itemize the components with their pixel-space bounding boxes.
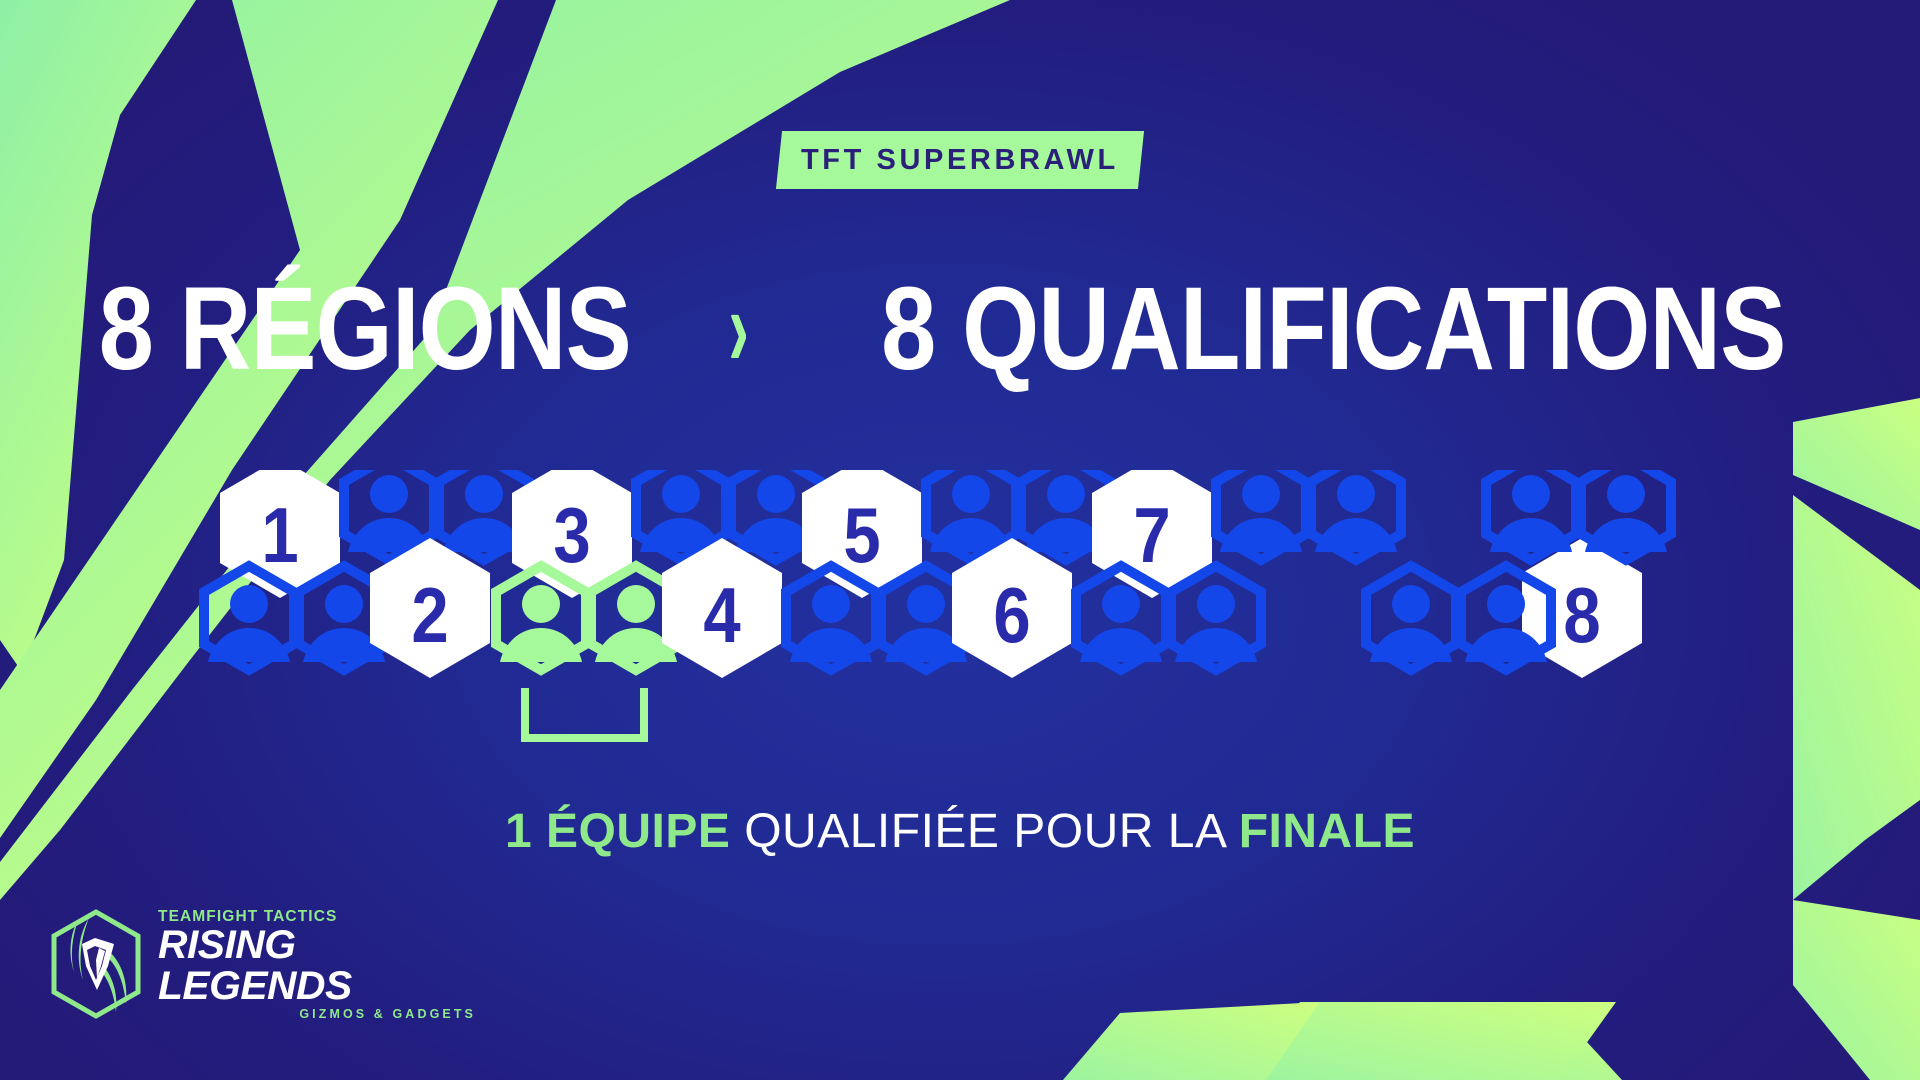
rising-legends-logo: TEAMFIGHT TACTICS RISING LEGENDS GIZMOS … <box>48 905 478 1023</box>
qualified-bracket <box>525 688 644 738</box>
region-number-label: 2 <box>411 572 448 659</box>
person-hexagon-icon <box>496 566 586 670</box>
logo-line-gizmos-gadgets: GIZMOS & GADGETS <box>158 1007 478 1022</box>
player-pair-top-7 <box>1216 470 1401 560</box>
region-number-label: 8 <box>1563 572 1600 659</box>
person-hexagon-icon <box>1581 470 1671 560</box>
region-group-8: 8 <box>1366 470 1671 678</box>
diagram-svg: 1 <box>0 470 1920 760</box>
tagline: 1 ÉQUIPE QUALIFIÉE POUR LA FINALE <box>0 808 1920 856</box>
person-hexagon-icon <box>1486 470 1576 560</box>
logo-line-rising-legends: RISING LEGENDS <box>158 925 484 1007</box>
chevron-right-icon: › <box>725 274 752 384</box>
person-hexagon-icon <box>1076 566 1166 670</box>
person-hexagon-icon <box>1311 470 1401 560</box>
headline-right: 8 QUALIFICATIONS <box>881 270 1785 388</box>
person-hexagon-icon <box>204 566 294 670</box>
tagline-part3: FINALE <box>1239 805 1415 858</box>
region-number-label: 5 <box>843 492 880 579</box>
person-hexagon-icon <box>786 566 876 670</box>
event-banner: TFT SUPERBRAWL <box>776 131 1144 189</box>
region-number-label: 7 <box>1133 492 1170 579</box>
rising-legends-hex-mark <box>48 908 144 1020</box>
qualification-diagram: 1 <box>0 470 1920 760</box>
infographic-canvas: TFT SUPERBRAWL 8 RÉGIONS › 8 QUALIFICATI… <box>0 0 1920 1080</box>
person-hexagon-icon <box>1171 566 1261 670</box>
headline: 8 RÉGIONS › 8 QUALIFICATIONS <box>0 270 1920 388</box>
event-banner-label: TFT SUPERBRAWL <box>801 144 1119 177</box>
region-number-label: 6 <box>993 572 1030 659</box>
person-hexagon-icon <box>1216 470 1306 560</box>
tagline-part1: 1 ÉQUIPE <box>505 805 730 858</box>
headline-left: 8 RÉGIONS <box>99 270 631 388</box>
tagline-part2: QUALIFIÉE POUR LA <box>730 805 1238 858</box>
region-number-label: 4 <box>703 572 741 659</box>
decor-bottom-right <box>1063 1002 1622 1080</box>
logo-wordmark: TEAMFIGHT TACTICS RISING LEGENDS GIZMOS … <box>158 906 478 1022</box>
person-hexagon-icon <box>1366 566 1456 670</box>
region-number-label: 3 <box>553 492 590 579</box>
region-group-7: 7 <box>1076 470 1401 670</box>
region-number-label: 1 <box>261 492 298 579</box>
